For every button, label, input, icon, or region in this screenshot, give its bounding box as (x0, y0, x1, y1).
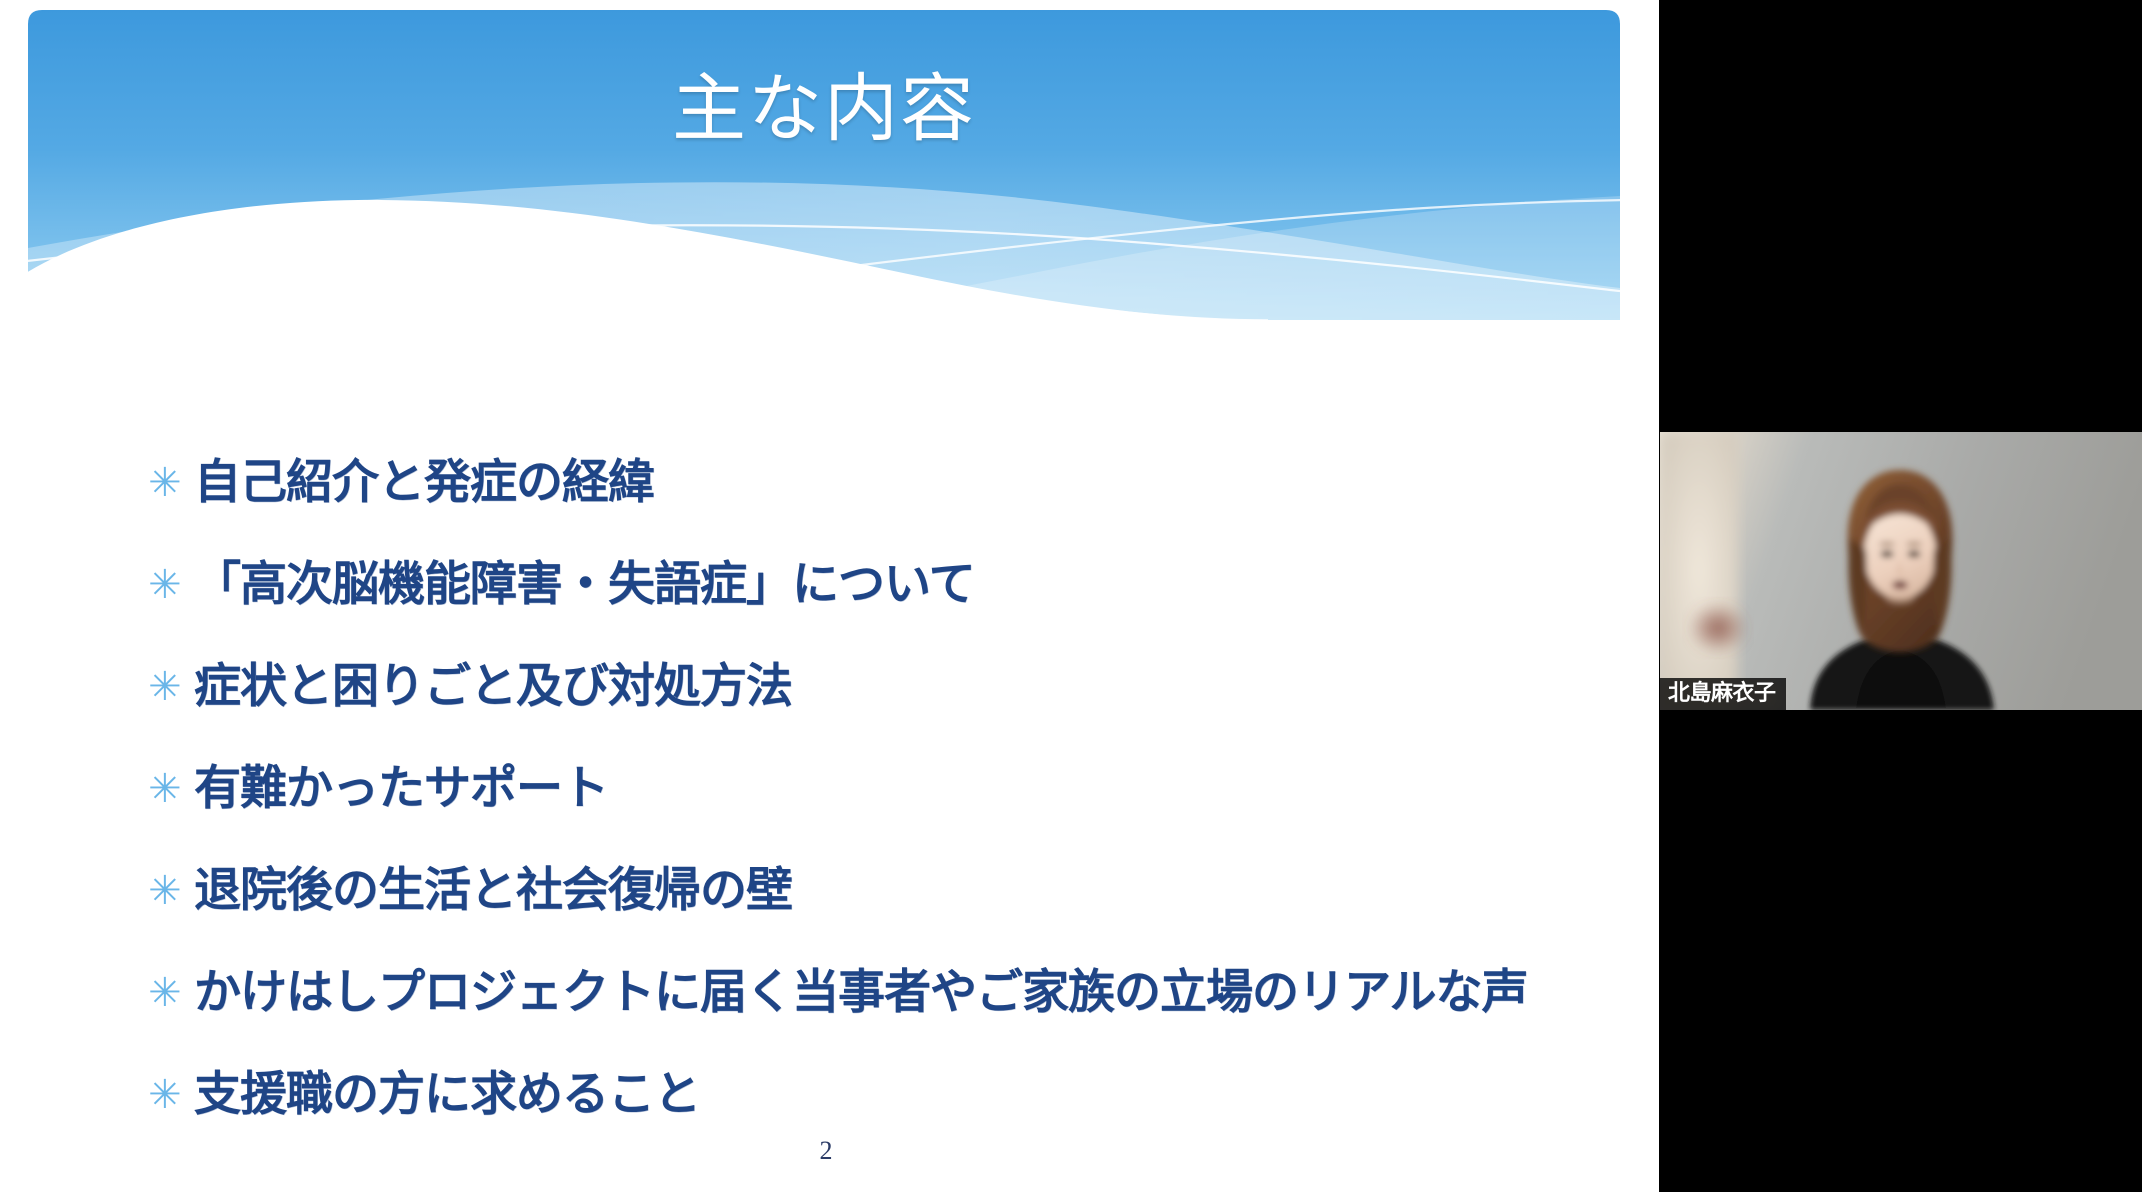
slide-title: 主な内容 (28, 72, 1620, 150)
participant-name-bar: 北島麻衣子 (1660, 678, 1786, 710)
bullet-text: 支援職の方に求めること (194, 1068, 1628, 1122)
bullet-text: 有難かったサポート (194, 762, 1628, 816)
list-item: ✳ 有難かったサポート (148, 738, 1628, 840)
list-item: ✳ 支援職の方に求めること (148, 1044, 1628, 1146)
list-item: ✳ 退院後の生活と社会復帰の壁 (148, 840, 1628, 942)
asterisk-bullet-icon: ✳ (148, 1075, 194, 1115)
banner-wave-svg (28, 10, 1620, 320)
participant-video-tile[interactable]: 北島麻衣子 (1660, 432, 2142, 710)
list-item: ✳ 自己紹介と発症の経緯 (148, 432, 1628, 534)
video-participant-panel: 北島麻衣子 (1659, 0, 2142, 1192)
slide-bullet-list: ✳ 自己紹介と発症の経緯 ✳ 「高次脳機能障害・失語症」について ✳ 症状と困り… (148, 432, 1628, 1146)
list-item: ✳ かけはしプロジェクトに届く当事者やご家族の立場のリアルな声 (148, 942, 1628, 1044)
asterisk-bullet-icon: ✳ (148, 667, 194, 707)
bullet-text: 症状と困りごと及び対処方法 (194, 660, 1628, 714)
slide-page-number: 2 (806, 1136, 846, 1166)
bullet-text: 「高次脳機能障害・失語症」について (194, 558, 1628, 612)
webcam-frame-svg (1660, 432, 2142, 710)
presentation-slide[interactable]: 主な内容 ✳ 自己紹介と発症の経緯 ✳ 「高次脳機能障害・失語症」について ✳ … (0, 0, 1659, 1192)
asterisk-bullet-icon: ✳ (148, 463, 194, 503)
bullet-text: 退院後の生活と社会復帰の壁 (194, 864, 1628, 918)
list-item: ✳ 症状と困りごと及び対処方法 (148, 636, 1628, 738)
screen-share-window: 主な内容 ✳ 自己紹介と発症の経緯 ✳ 「高次脳機能障害・失語症」について ✳ … (0, 0, 2142, 1192)
slide-banner-graphic (28, 10, 1620, 320)
participant-name-label: 北島麻衣子 (1668, 683, 1776, 705)
list-item: ✳ 「高次脳機能障害・失語症」について (148, 534, 1628, 636)
bullet-text: 自己紹介と発症の経緯 (194, 456, 1628, 510)
participant-webcam-image (1660, 432, 2142, 710)
bullet-text: かけはしプロジェクトに届く当事者やご家族の立場のリアルな声 (194, 966, 1628, 1020)
asterisk-bullet-icon: ✳ (148, 973, 194, 1013)
asterisk-bullet-icon: ✳ (148, 871, 194, 911)
asterisk-bullet-icon: ✳ (148, 565, 194, 605)
asterisk-bullet-icon: ✳ (148, 769, 194, 809)
